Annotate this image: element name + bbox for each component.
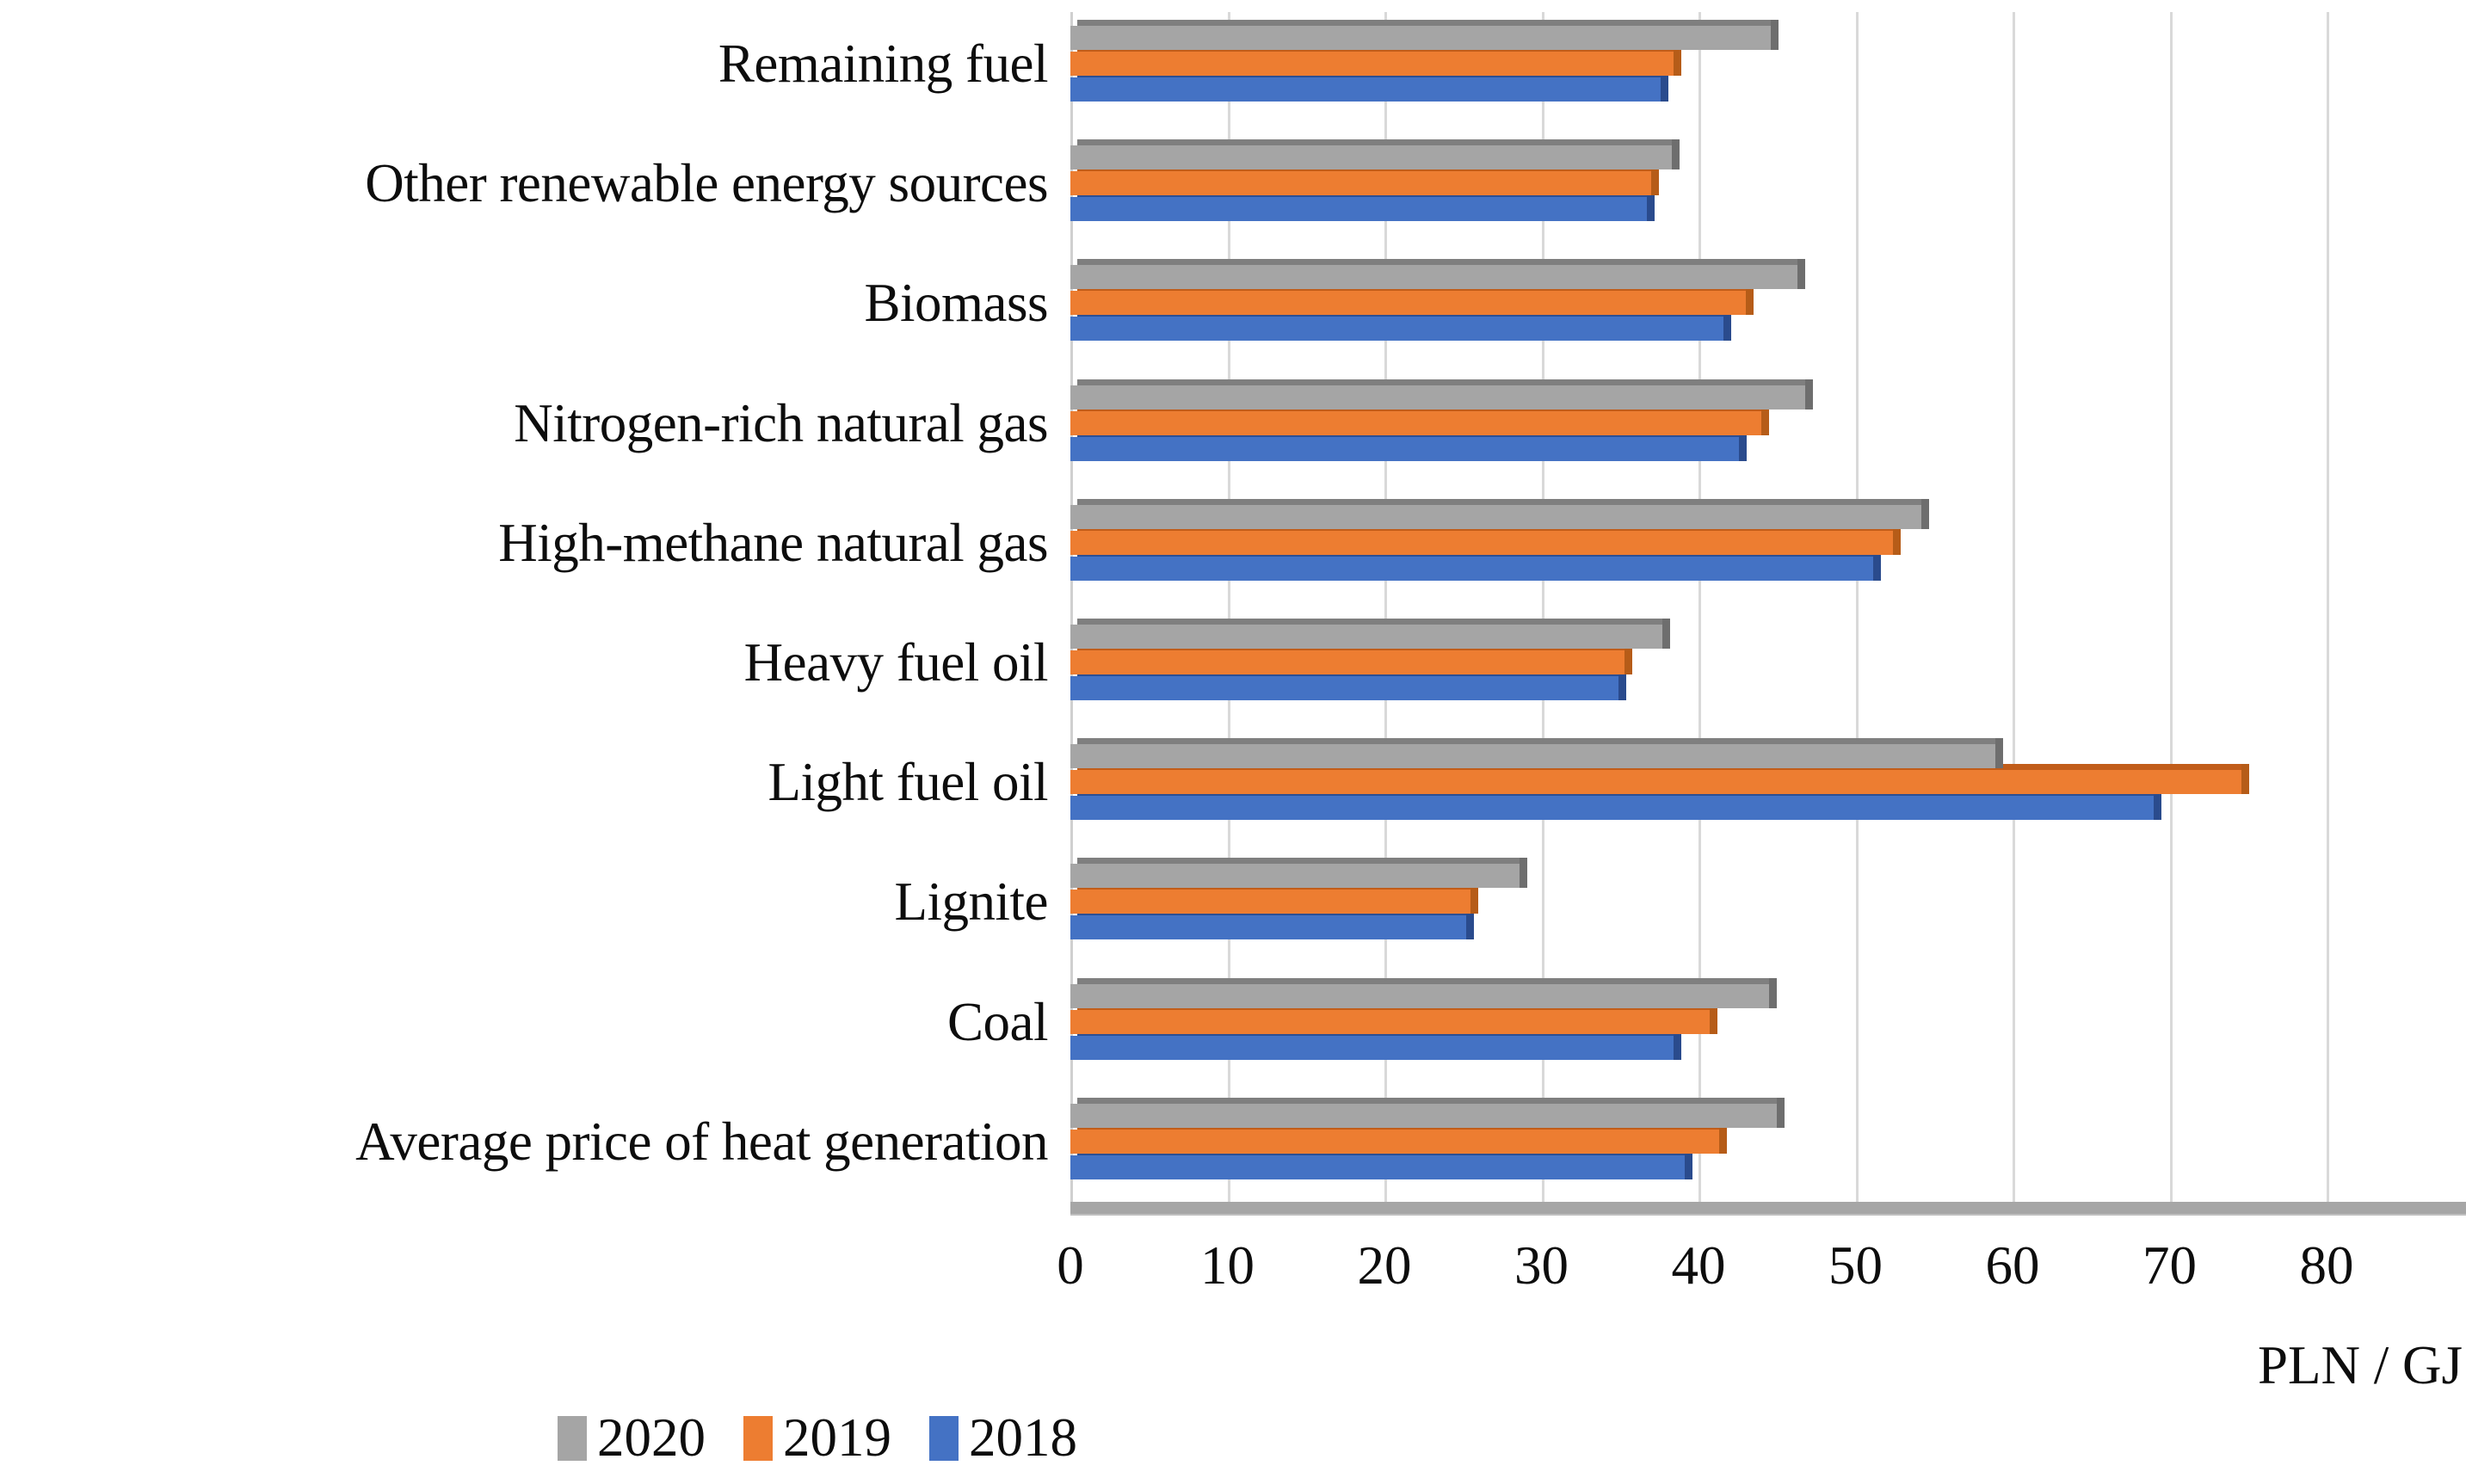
category-label: Coal	[0, 995, 1048, 1050]
plot-area	[1070, 12, 2327, 1215]
category-label: High-methane natural gas	[0, 516, 1048, 570]
bar-face	[1070, 744, 1995, 768]
bar-2019-biomass	[1070, 291, 1746, 315]
bar-face	[1070, 317, 1723, 341]
legend-item-2018[interactable]: 2018	[929, 1411, 1077, 1465]
bar-face	[1070, 1155, 1685, 1179]
bar-2019-lignite	[1070, 890, 1470, 914]
bar-2020-lignite	[1070, 864, 1520, 888]
bar-2020-light-fuel-oil	[1070, 744, 1995, 768]
bar-face	[1070, 625, 1662, 649]
bar-top-face	[1077, 978, 1777, 984]
bar-face	[1070, 531, 1893, 555]
legend-item-2020[interactable]: 2020	[558, 1411, 706, 1465]
bar-face	[1070, 650, 1624, 674]
bar-2020-high-methane-natural-gas	[1070, 505, 1921, 529]
bar-2019-coal	[1070, 1010, 1710, 1034]
bar-2020-biomass	[1070, 265, 1797, 289]
bar-group	[1070, 744, 2327, 822]
bar-face	[1070, 197, 1647, 221]
bar-top-face	[1077, 619, 1670, 625]
bar-side-face	[1618, 670, 1626, 700]
bar-chart: Remaining fuelOther renewable energy sou…	[0, 0, 2466, 1484]
bar-face	[1070, 145, 1672, 169]
bar-face	[1070, 26, 1771, 50]
bar-side-face	[1685, 1149, 1692, 1179]
gridline	[2327, 12, 2329, 1215]
bar-side-face	[1723, 311, 1731, 341]
category-label: Heavy fuel oil	[0, 636, 1048, 690]
x-tick-label: 60	[1986, 1239, 2040, 1293]
x-tick-label: 70	[2142, 1239, 2197, 1293]
bar-side-face	[1771, 20, 1779, 50]
bar-top-face	[1077, 1098, 1785, 1104]
bar-side-face	[1662, 619, 1670, 649]
x-tick-label: 40	[1672, 1239, 1726, 1293]
legend-swatch-icon	[929, 1416, 959, 1461]
bar-group	[1070, 265, 2327, 342]
bar-face	[1070, 77, 1661, 102]
bar-face	[1070, 171, 1651, 195]
bar-2018-light-fuel-oil	[1070, 796, 2154, 820]
bar-side-face	[1710, 1004, 1717, 1034]
bar-group	[1070, 385, 2327, 463]
bar-side-face	[1647, 191, 1655, 221]
category-label: Lignite	[0, 875, 1048, 929]
bar-2020-average-price-of-heat-generation	[1070, 1104, 1777, 1128]
legend-swatch-icon	[743, 1416, 773, 1461]
bar-2018-heavy-fuel-oil	[1070, 676, 1618, 700]
bar-side-face	[1769, 978, 1777, 1008]
bar-2019-high-methane-natural-gas	[1070, 531, 1893, 555]
bar-side-face	[1719, 1124, 1727, 1154]
bar-2019-light-fuel-oil	[1070, 770, 2241, 794]
bar-2020-coal	[1070, 984, 1769, 1008]
bar-face	[1070, 291, 1746, 315]
bar-top-face	[1077, 20, 1779, 26]
bar-side-face	[1520, 858, 1527, 888]
bar-side-face	[1921, 499, 1929, 529]
bar-side-face	[1674, 46, 1681, 76]
bar-2019-average-price-of-heat-generation	[1070, 1130, 1719, 1154]
bar-2019-nitrogen-rich-natural-gas	[1070, 411, 1761, 435]
category-label: Remaining fuel	[0, 37, 1048, 91]
bar-2020-other-renewable-energy-sources	[1070, 145, 1672, 169]
bar-face	[1070, 52, 1674, 76]
bar-group	[1070, 145, 2327, 223]
category-label: Average price of heat generation	[0, 1115, 1048, 1169]
bar-2018-biomass	[1070, 317, 1723, 341]
bar-side-face	[2241, 764, 2249, 794]
bar-top-face	[1077, 379, 1813, 385]
bar-top-face	[1077, 499, 1929, 505]
bar-face	[1070, 1010, 1710, 1034]
bar-side-face	[1746, 285, 1754, 315]
bar-side-face	[1797, 259, 1805, 289]
bar-group	[1070, 625, 2327, 702]
bar-top-face	[1077, 139, 1680, 145]
bar-2020-remaining-fuel	[1070, 26, 1771, 50]
x-tick-label: 20	[1358, 1239, 1412, 1293]
bar-face	[1070, 265, 1797, 289]
bar-2018-nitrogen-rich-natural-gas	[1070, 437, 1739, 461]
bar-side-face	[2154, 790, 2161, 820]
bar-face	[1070, 915, 1466, 939]
legend-label: 2019	[783, 1411, 891, 1465]
bar-2018-remaining-fuel	[1070, 77, 1661, 102]
bar-side-face	[1873, 551, 1881, 581]
bar-2018-other-renewable-energy-sources	[1070, 197, 1647, 221]
category-axis: Remaining fuelOther renewable energy sou…	[0, 0, 1048, 1215]
bar-side-face	[1661, 71, 1668, 102]
bar-group	[1070, 984, 2327, 1062]
category-label: Light fuel oil	[0, 755, 1048, 810]
bar-group	[1070, 864, 2327, 941]
legend-swatch-icon	[558, 1416, 587, 1461]
bar-face	[1070, 984, 1769, 1008]
bar-side-face	[1470, 884, 1478, 914]
bar-face	[1070, 1036, 1674, 1060]
bar-face	[1070, 770, 2241, 794]
bar-2018-lignite	[1070, 915, 1466, 939]
bar-top-face	[1077, 259, 1805, 265]
category-label: Biomass	[0, 276, 1048, 330]
bar-side-face	[1672, 139, 1680, 169]
x-tick-label: 0	[1057, 1239, 1084, 1293]
bar-side-face	[1777, 1098, 1785, 1128]
bar-side-face	[1651, 165, 1659, 195]
legend-item-2019[interactable]: 2019	[743, 1411, 891, 1465]
bar-2019-heavy-fuel-oil	[1070, 650, 1624, 674]
x-tick-label: 30	[1514, 1239, 1569, 1293]
x-axis-title: PLN / GJ	[2258, 1339, 2463, 1393]
bar-side-face	[1761, 405, 1769, 435]
bar-group	[1070, 505, 2327, 582]
bar-2020-heavy-fuel-oil	[1070, 625, 1662, 649]
bar-side-face	[1624, 644, 1632, 674]
bar-side-face	[1995, 738, 2003, 768]
x-tick-label: 10	[1200, 1239, 1255, 1293]
bar-face	[1070, 1130, 1719, 1154]
bar-side-face	[1466, 909, 1474, 939]
x-tick-label: 50	[1828, 1239, 1883, 1293]
axis-floor-shadow	[1070, 1214, 2466, 1216]
bar-face	[1070, 864, 1520, 888]
bar-face	[1070, 796, 2154, 820]
bar-face	[1070, 385, 1805, 409]
bar-2018-average-price-of-heat-generation	[1070, 1155, 1685, 1179]
category-label: Nitrogen-rich natural gas	[0, 397, 1048, 451]
x-tick-label: 80	[2300, 1239, 2354, 1293]
bar-face	[1070, 557, 1873, 581]
bar-top-face	[1077, 858, 1527, 864]
axis-floor	[1070, 1202, 2466, 1214]
bar-face	[1070, 890, 1470, 914]
legend: 202020192018	[0, 1411, 1635, 1465]
bar-top-face	[1077, 738, 2003, 744]
bar-side-face	[1739, 431, 1747, 461]
x-axis-ticks: 01020304050607080	[0, 1239, 2466, 1333]
legend-label: 2018	[969, 1411, 1077, 1465]
bar-face	[1070, 676, 1618, 700]
bar-side-face	[1805, 379, 1813, 409]
legend-label: 2020	[597, 1411, 706, 1465]
bar-group	[1070, 1104, 2327, 1181]
bar-2018-high-methane-natural-gas	[1070, 557, 1873, 581]
bar-side-face	[1674, 1030, 1681, 1060]
bar-face	[1070, 411, 1761, 435]
bar-2019-other-renewable-energy-sources	[1070, 171, 1651, 195]
bar-group	[1070, 26, 2327, 103]
category-label: Other renewable energy sources	[0, 157, 1048, 211]
bar-face	[1070, 505, 1921, 529]
bar-2019-remaining-fuel	[1070, 52, 1674, 76]
bar-face	[1070, 1104, 1777, 1128]
bar-side-face	[1893, 525, 1901, 555]
bar-2018-coal	[1070, 1036, 1674, 1060]
bar-face	[1070, 437, 1739, 461]
bar-2020-nitrogen-rich-natural-gas	[1070, 385, 1805, 409]
